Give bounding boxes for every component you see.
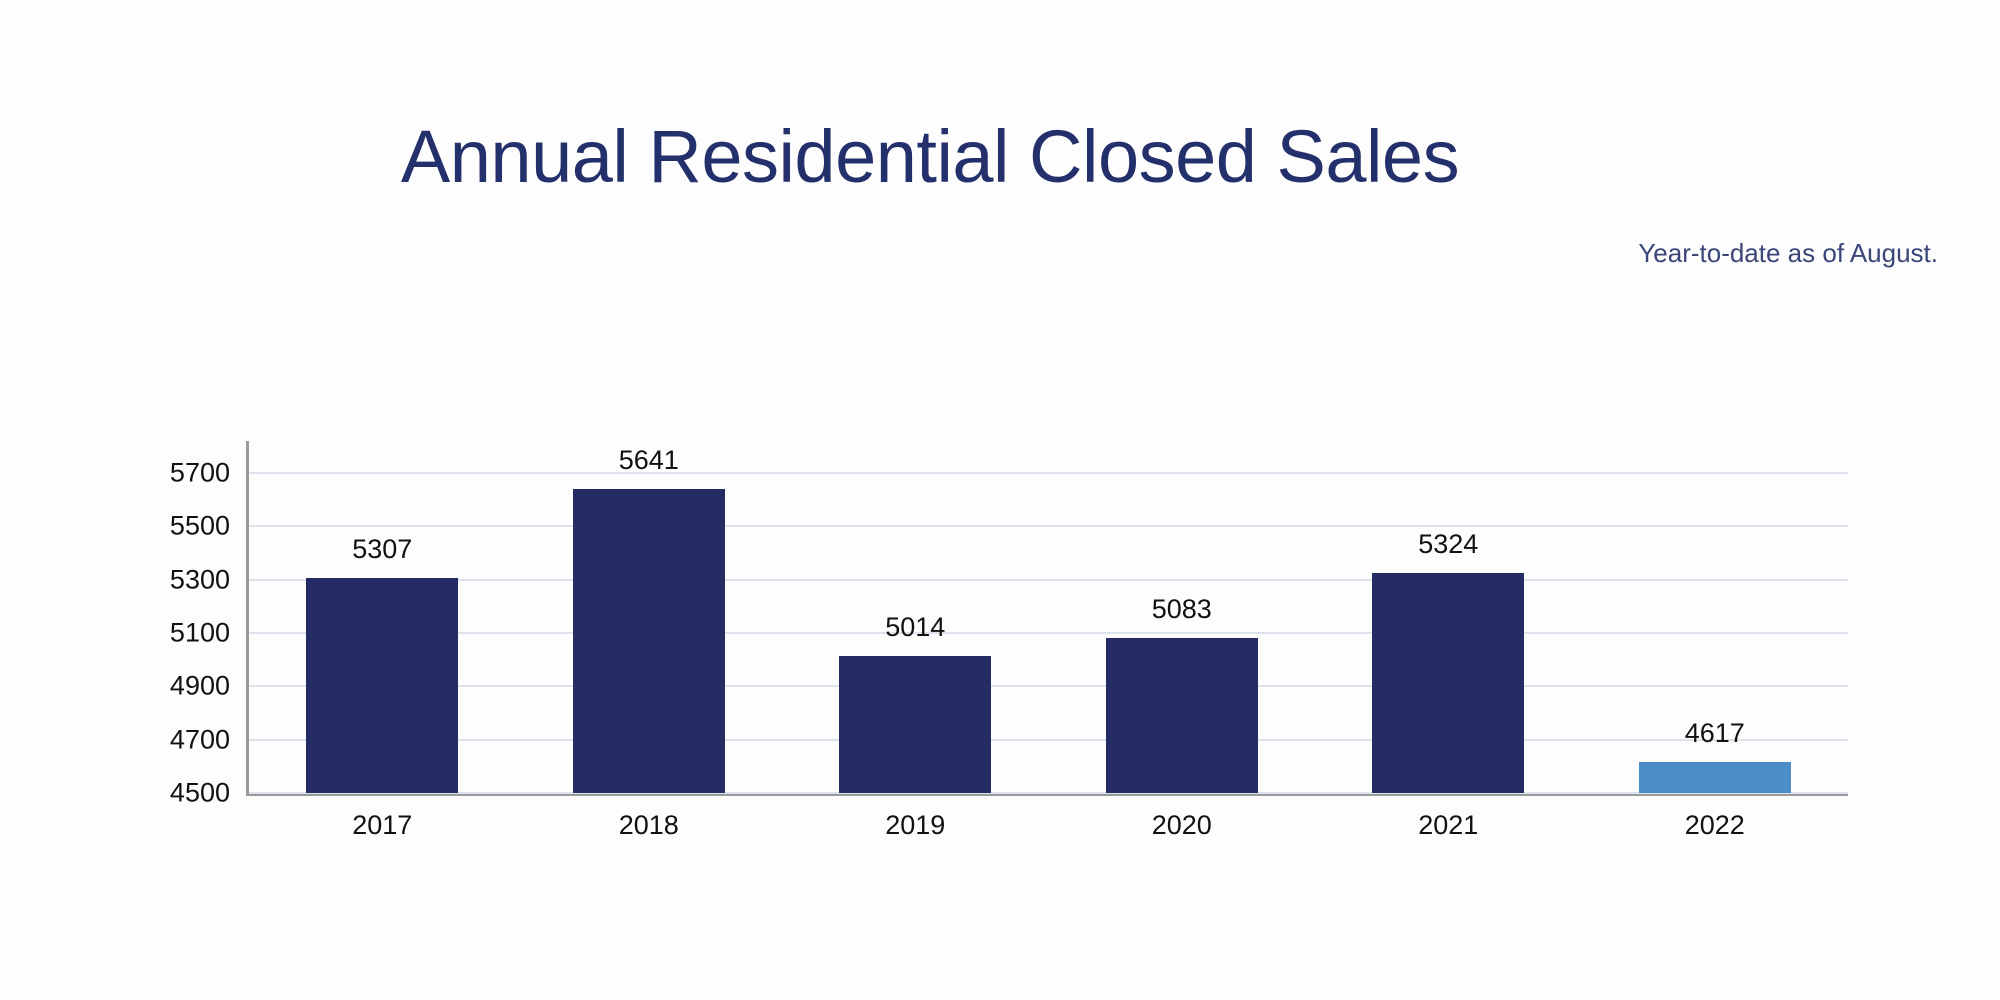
y-axis-tick-label: 5100 — [120, 618, 230, 649]
bar[interactable] — [573, 489, 725, 793]
bar[interactable] — [306, 578, 458, 793]
bar[interactable] — [1639, 762, 1791, 793]
x-axis-tick-label: 2018 — [516, 810, 783, 841]
bar[interactable] — [1106, 638, 1258, 793]
x-axis-tick-label: 2021 — [1315, 810, 1582, 841]
bar-value-label: 5324 — [1418, 529, 1478, 560]
y-axis-tick-labels: 5700550053005100490047004500 — [110, 441, 230, 797]
bar-series: 530756415014508353244617 — [249, 441, 1848, 793]
bar-value-label: 5307 — [352, 534, 412, 565]
y-axis-tick-label: 4900 — [120, 671, 230, 702]
bar-value-label: 5641 — [619, 445, 679, 476]
x-axis-tick-label: 2017 — [249, 810, 516, 841]
bar-group: 5014 — [782, 441, 1049, 793]
bar-value-label: 5083 — [1152, 594, 1212, 625]
chart-page: Annual Residential Closed Sales Year-to-… — [0, 0, 2000, 1000]
y-axis-tick-label: 4700 — [120, 724, 230, 755]
page-title: Annual Residential Closed Sales — [0, 120, 1860, 194]
bar-group: 5324 — [1315, 441, 1582, 793]
bar[interactable] — [839, 656, 991, 793]
chart-subtitle: Year-to-date as of August. — [1638, 238, 1938, 269]
y-axis-tick-label: 5300 — [120, 564, 230, 595]
bar-value-label: 5014 — [885, 612, 945, 643]
bar-group: 5641 — [516, 441, 783, 793]
bar[interactable] — [1372, 573, 1524, 793]
x-axis-tick-label: 2020 — [1049, 810, 1316, 841]
y-axis-tick-label: 5700 — [120, 458, 230, 489]
y-axis-tick-label: 5500 — [120, 511, 230, 542]
bar-value-label: 4617 — [1685, 718, 1745, 749]
bar-group: 4617 — [1582, 441, 1849, 793]
x-axis-tick-label: 2019 — [782, 810, 1049, 841]
x-axis-tick-labels: 201720182019202020212022 — [249, 810, 1848, 854]
bar-group: 5307 — [249, 441, 516, 793]
x-axis-tick-label: 2022 — [1582, 810, 1849, 841]
bar-group: 5083 — [1049, 441, 1316, 793]
y-axis-tick-label: 4500 — [120, 778, 230, 809]
